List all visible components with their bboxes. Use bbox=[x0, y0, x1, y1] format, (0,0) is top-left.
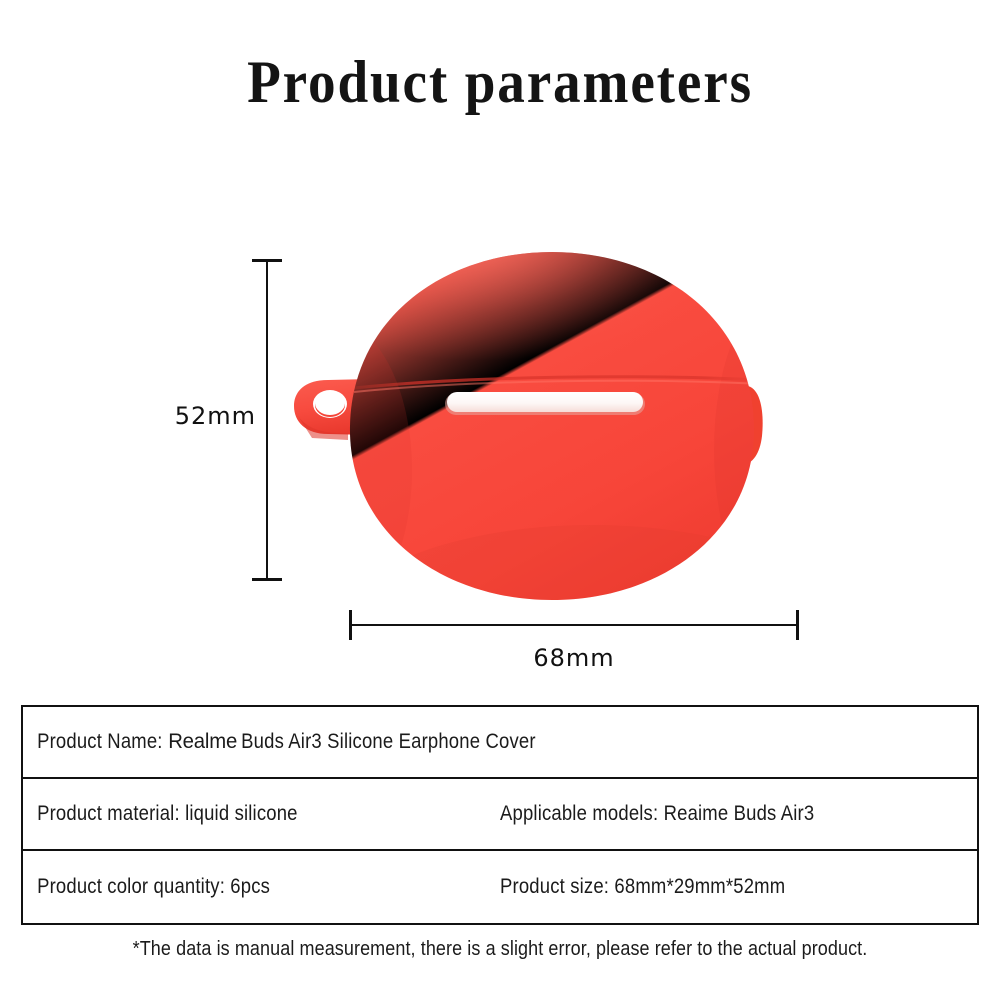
spec-product-size-cell: Product size: 68mm*29mm*52mm bbox=[500, 875, 920, 899]
spec-product-name-cell: Product Name: Realme Buds Air3 Silicone … bbox=[23, 730, 863, 754]
width-dimension-line bbox=[350, 624, 798, 626]
product-image-earphone-case bbox=[292, 240, 812, 610]
spec-material-cell: Product material: liquid silicone bbox=[23, 802, 443, 826]
product-illustration-stage: 52mm 68mm bbox=[0, 180, 1000, 680]
front-slot-notch bbox=[445, 392, 645, 415]
spec-product-brand: Realme bbox=[168, 730, 243, 754]
spec-table: Product Name: Realme Buds Air3 Silicone … bbox=[21, 705, 979, 925]
measurement-disclaimer: *The data is manual measurement, there i… bbox=[50, 938, 950, 961]
height-dimension-label: 52mm bbox=[160, 402, 256, 430]
spec-product-name-label: Product Name: bbox=[37, 730, 163, 753]
width-dimension-label: 68mm bbox=[350, 644, 798, 672]
spec-product-name-value: Buds Air3 Silicone Earphone Cover bbox=[241, 730, 535, 753]
table-row: Product material: liquid silicone Applic… bbox=[23, 779, 977, 851]
table-row: Product color quantity: 6pcs Product siz… bbox=[23, 851, 977, 923]
case-right-shade bbox=[714, 290, 812, 610]
spec-applicable-models-cell: Applicable models: Reaime Buds Air3 bbox=[500, 802, 920, 826]
height-dimension-line bbox=[266, 260, 268, 580]
page-title: Product parameters bbox=[40, 50, 960, 114]
spec-color-quantity-cell: Product color quantity: 6pcs bbox=[23, 875, 443, 899]
table-row: Product Name: Realme Buds Air3 Silicone … bbox=[23, 707, 977, 779]
